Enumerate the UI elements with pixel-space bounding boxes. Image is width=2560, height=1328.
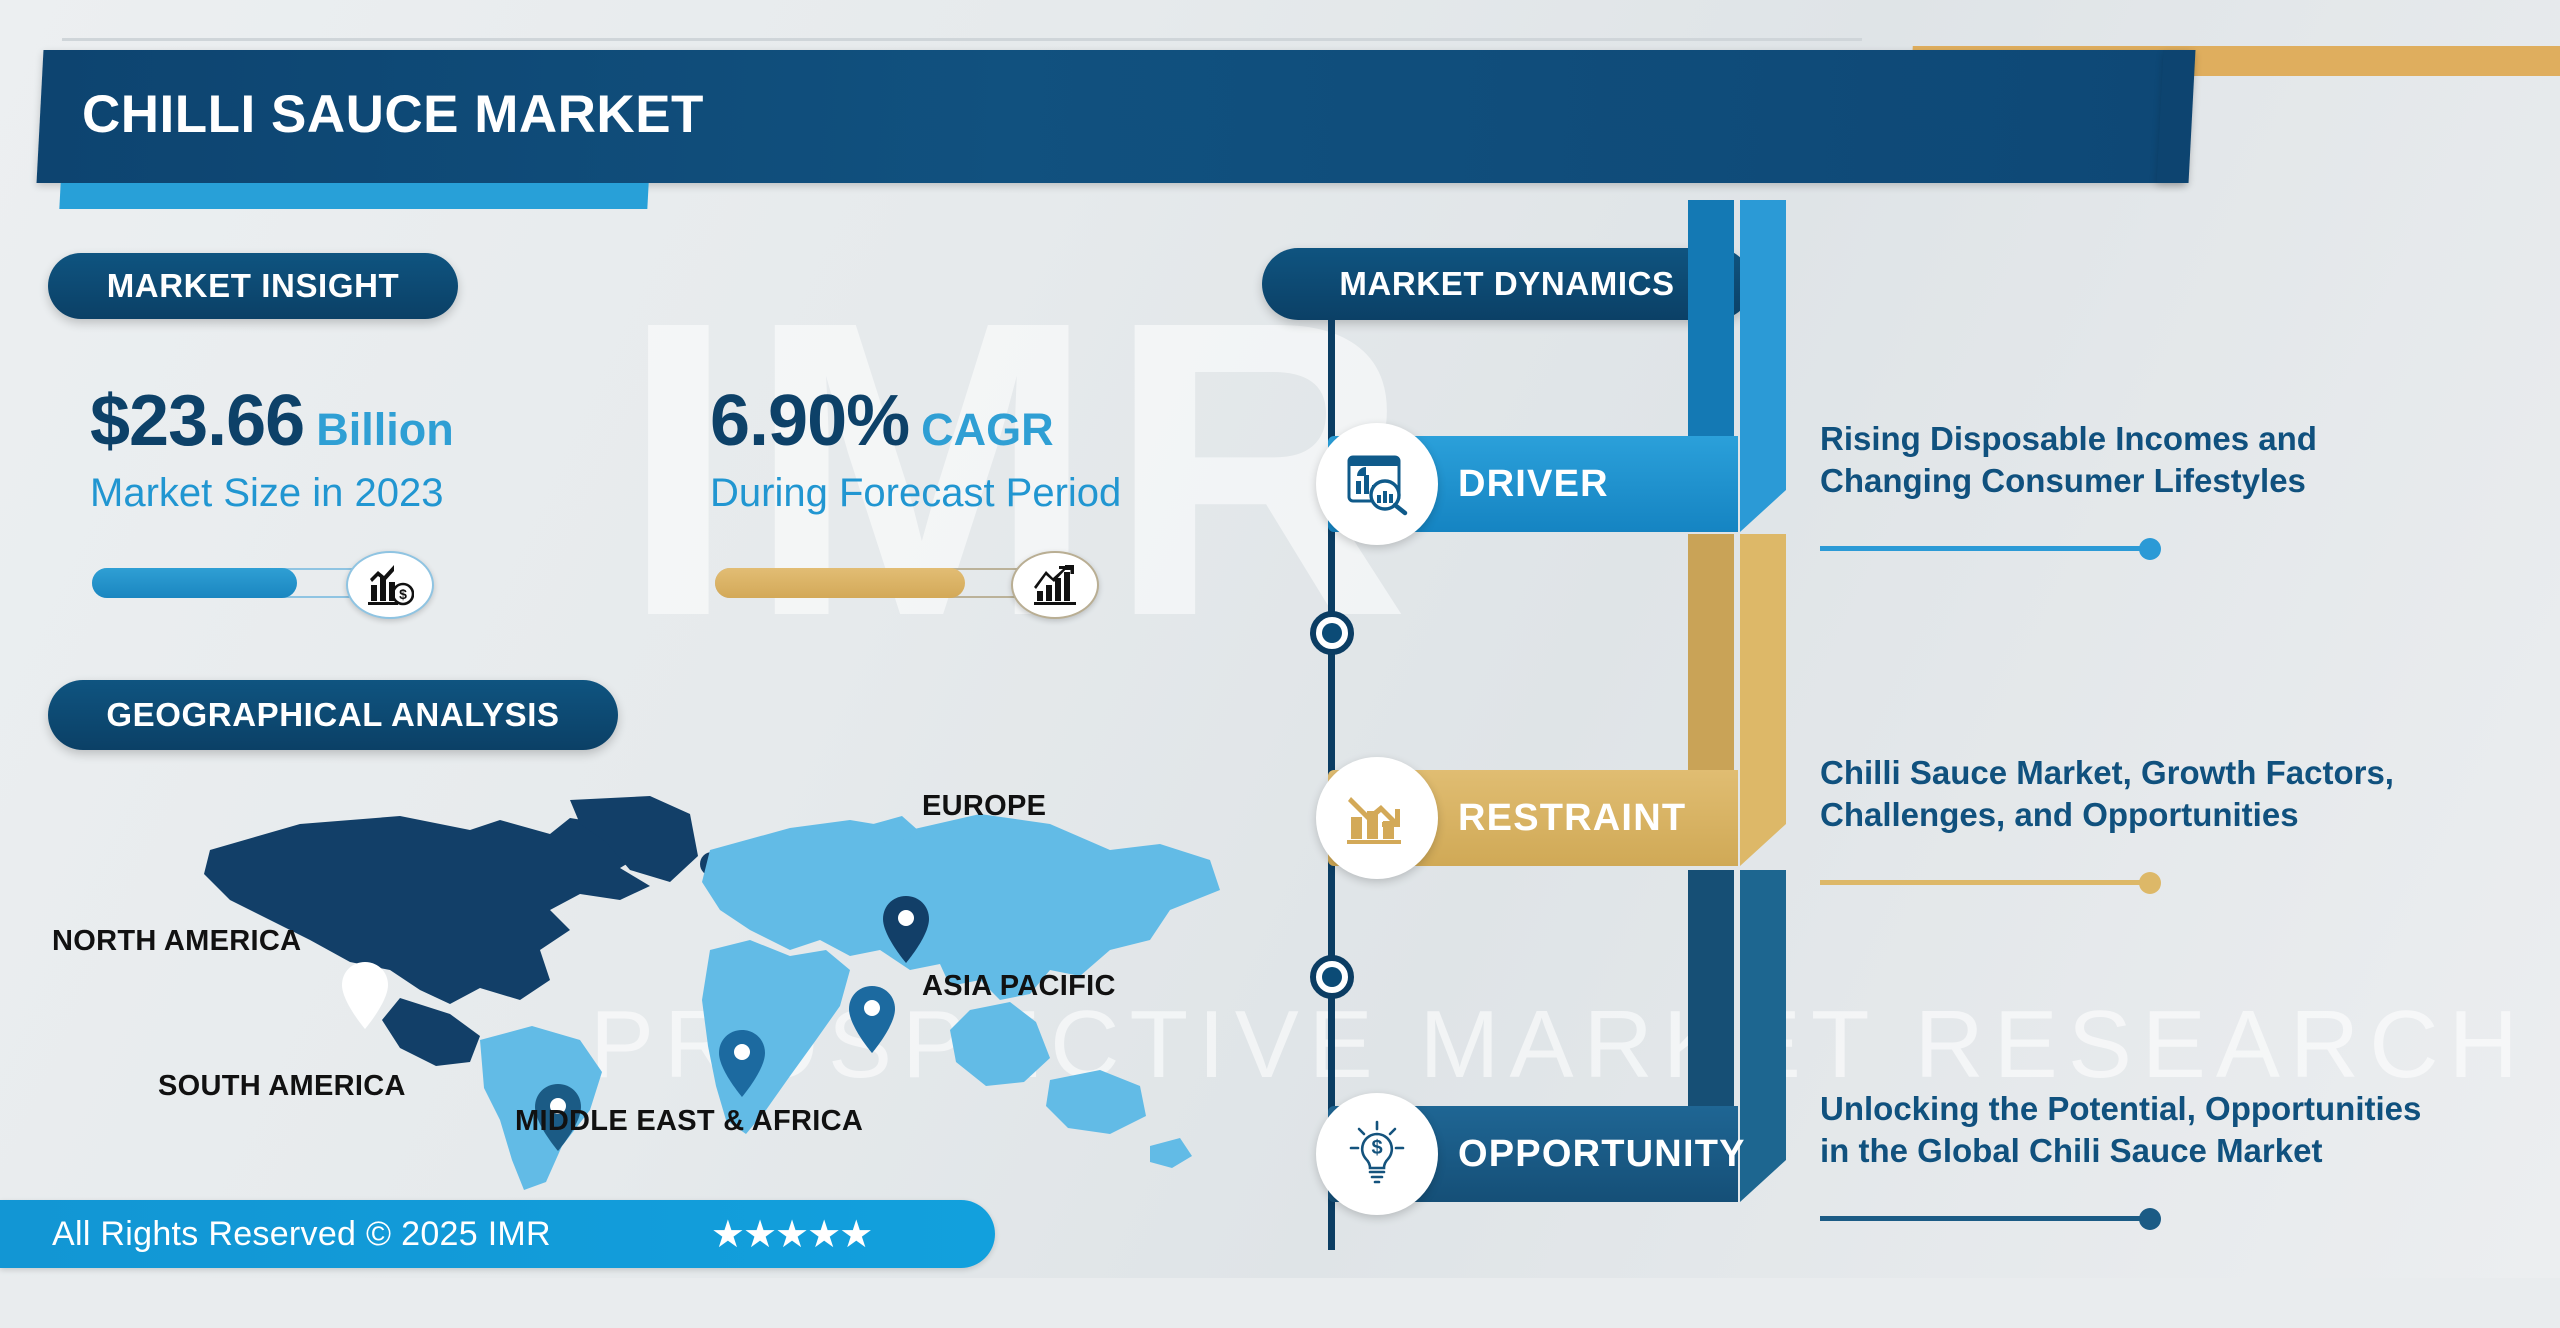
header-underbar xyxy=(59,183,648,209)
page-title: CHILLI SAUCE MARKET xyxy=(82,84,1682,145)
region-label-middle-east-africa: MIDDLE EAST & AFRICA xyxy=(515,1105,863,1138)
dynamics-ribbon[interactable]: RESTRAINT xyxy=(1328,770,1738,866)
header-hairline xyxy=(62,38,1862,41)
copyright-text: All Rights Reserved © 2025 IMR xyxy=(52,1215,551,1254)
description-line-1: Unlocking the Potential, Opportunities xyxy=(1820,1088,2540,1130)
stat-market-size: $23.66Billion Market Size in 2023 xyxy=(90,385,454,516)
dynamics-row-restraint: RESTRAINT Chilli Sauce Market, Growth Fa… xyxy=(1290,652,2560,992)
description-rule xyxy=(1820,546,2150,551)
map-pin-north-america xyxy=(342,962,388,1029)
cagr-progress xyxy=(715,551,1035,615)
region-label-asia-pacific: ASIA PACIFIC xyxy=(922,970,1116,1003)
declining-bar-chart-icon xyxy=(1316,757,1438,879)
stat-unit: CAGR xyxy=(921,404,1054,455)
svg-text:$: $ xyxy=(399,586,407,602)
rating-stars: ★★★★★ xyxy=(711,1212,871,1257)
infographic-canvas: IMR PROSPECTIVE MARKET RESEARCH CHILLI S… xyxy=(0,0,2560,1278)
dynamics-description: Rising Disposable Incomes and Changing C… xyxy=(1820,418,2540,502)
description-rule xyxy=(1820,1216,2150,1221)
stat-value: $23.66 xyxy=(90,381,304,461)
bar-chart-dollar-icon: $ xyxy=(346,551,434,619)
rule-dot xyxy=(2139,538,2161,560)
description-line-2: in the Global Chili Sauce Market xyxy=(1820,1130,2540,1172)
region-label-south-america: SOUTH AMERICA xyxy=(158,1070,406,1103)
dynamics-ribbon[interactable]: $ OPPORTUNITY xyxy=(1328,1106,1738,1202)
description-rule xyxy=(1820,880,2150,885)
dynamics-description: Chilli Sauce Market, Growth Factors, Cha… xyxy=(1820,752,2540,836)
section-title-geographical-analysis: GEOGRAPHICAL ANALYSIS xyxy=(48,680,618,750)
progress-fill xyxy=(92,568,297,598)
dynamics-label: DRIVER xyxy=(1458,436,1609,532)
stat-value: 6.90% xyxy=(710,381,909,461)
dynamics-row-driver: DRIVER Rising Disposable Incomes and Cha… xyxy=(1290,318,2560,658)
description-line-1: Chilli Sauce Market, Growth Factors, xyxy=(1820,752,2540,794)
description-line-1: Rising Disposable Incomes and xyxy=(1820,418,2540,460)
header-band-right xyxy=(2157,50,2196,183)
description-line-2: Changing Consumer Lifestyles xyxy=(1820,460,2540,502)
stat-cagr: 6.90%CAGR During Forecast Period xyxy=(710,385,1121,516)
stat-unit: Billion xyxy=(316,404,453,455)
map-pin-asia-pacific xyxy=(849,986,895,1053)
rule-dot xyxy=(2139,1208,2161,1230)
svg-text:$: $ xyxy=(1371,1137,1382,1159)
footer-bar: All Rights Reserved © 2025 IMR ★★★★★ xyxy=(0,1200,995,1268)
progress-fill xyxy=(715,568,965,598)
stat-caption: During Forecast Period xyxy=(710,471,1121,516)
region-label-europe: EUROPE xyxy=(922,790,1046,823)
stat-caption: Market Size in 2023 xyxy=(90,471,454,516)
description-line-2: Challenges, and Opportunities xyxy=(1820,794,2540,836)
section-title-market-dynamics: MARKET DYNAMICS xyxy=(1262,248,1752,320)
dynamics-label: OPPORTUNITY xyxy=(1458,1106,1746,1202)
market-analysis-search-icon xyxy=(1316,423,1438,545)
growth-arrow-chart-icon xyxy=(1011,551,1099,619)
dynamics-description: Unlocking the Potential, Opportunities i… xyxy=(1820,1088,2540,1172)
dynamics-label: RESTRAINT xyxy=(1458,770,1686,866)
dynamics-ribbon[interactable]: DRIVER xyxy=(1328,436,1738,532)
dynamics-row-opportunity: $ OPPORTUNITY Unlocking the Potential, O… xyxy=(1290,988,2560,1328)
region-label-north-america: NORTH AMERICA xyxy=(52,925,301,958)
section-title-market-insight: MARKET INSIGHT xyxy=(48,253,458,319)
market-size-progress: $ xyxy=(92,551,412,615)
rule-dot xyxy=(2139,872,2161,894)
lightbulb-dollar-icon: $ xyxy=(1316,1093,1438,1215)
